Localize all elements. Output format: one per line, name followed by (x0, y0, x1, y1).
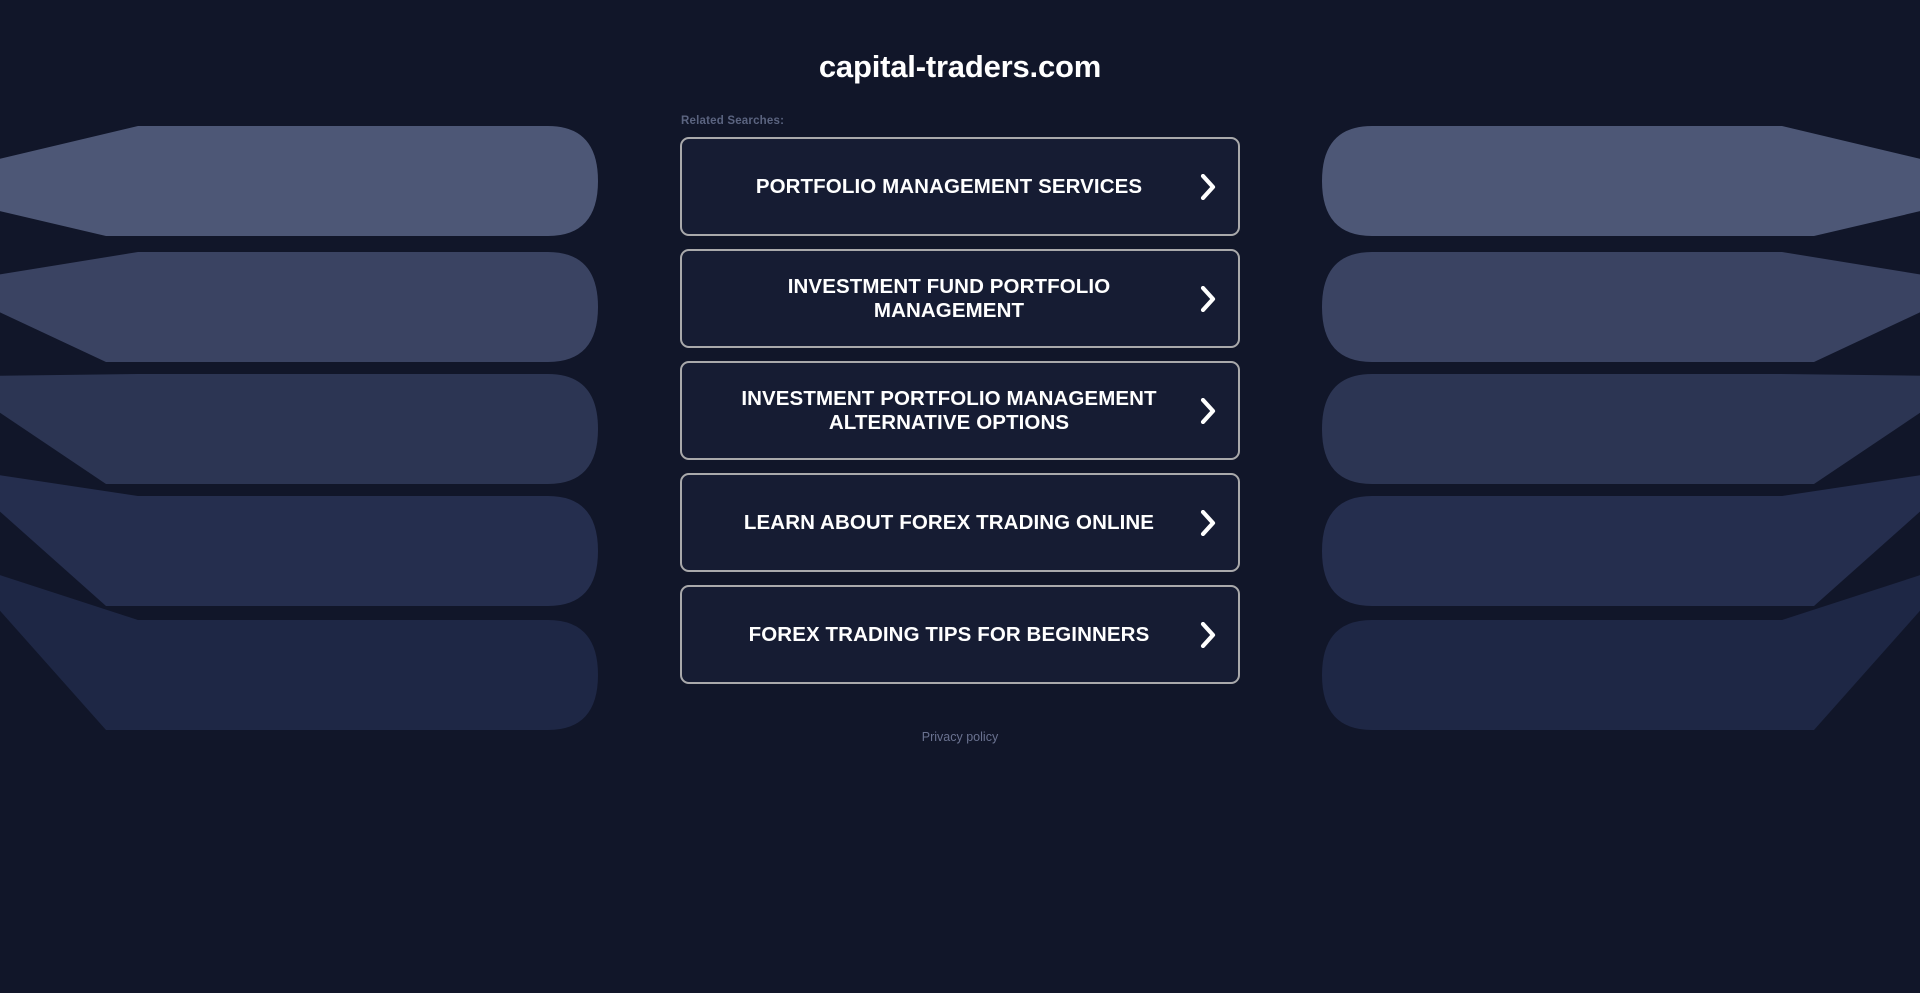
related-search-card-1[interactable]: PORTFOLIO MANAGEMENT SERVICES (680, 137, 1240, 236)
parked-domain-page: capital-traders.com Related Searches: PO… (0, 0, 1920, 993)
related-searches-label: Related Searches: (680, 115, 1240, 127)
related-searches-list: PORTFOLIO MANAGEMENT SERVICES INVESTMENT… (680, 137, 1240, 684)
related-search-label: INVESTMENT FUND PORTFOLIO MANAGEMENT (734, 275, 1164, 323)
page-footer: Privacy policy (0, 730, 1920, 744)
chevron-right-icon (1199, 284, 1217, 314)
related-search-label: LEARN ABOUT FOREX TRADING ONLINE (744, 511, 1154, 535)
related-search-label: PORTFOLIO MANAGEMENT SERVICES (756, 175, 1142, 199)
chevron-right-icon (1199, 172, 1217, 202)
related-search-card-2[interactable]: INVESTMENT FUND PORTFOLIO MANAGEMENT (680, 249, 1240, 348)
related-searches-section: Related Searches: PORTFOLIO MANAGEMENT S… (680, 115, 1240, 684)
related-search-label: FOREX TRADING TIPS FOR BEGINNERS (749, 623, 1150, 647)
page-title: capital-traders.com (819, 48, 1101, 85)
chevron-right-icon (1199, 508, 1217, 538)
chevron-right-icon (1199, 396, 1217, 426)
related-search-card-4[interactable]: LEARN ABOUT FOREX TRADING ONLINE (680, 473, 1240, 572)
chevron-right-icon (1199, 620, 1217, 650)
related-search-card-3[interactable]: INVESTMENT PORTFOLIO MANAGEMENT ALTERNAT… (680, 361, 1240, 460)
privacy-policy-link[interactable]: Privacy policy (922, 730, 998, 744)
related-search-label: INVESTMENT PORTFOLIO MANAGEMENT ALTERNAT… (734, 387, 1164, 435)
related-search-card-5[interactable]: FOREX TRADING TIPS FOR BEGINNERS (680, 585, 1240, 684)
